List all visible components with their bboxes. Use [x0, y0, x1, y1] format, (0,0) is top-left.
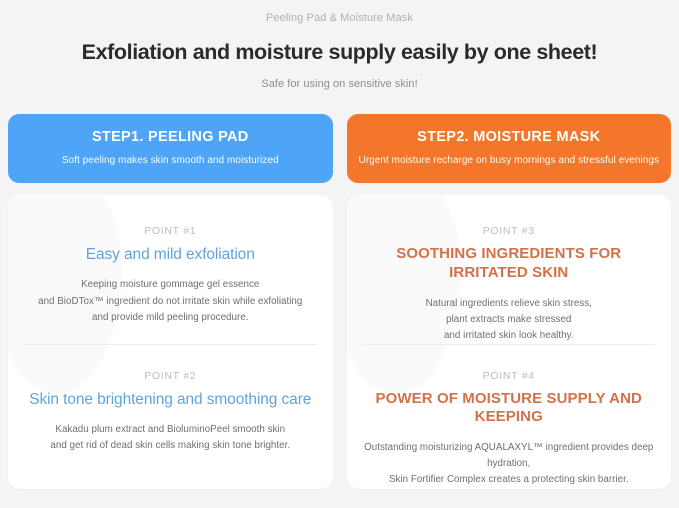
- page-subtitle: Safe for using on sensitive skin!: [0, 78, 679, 90]
- step2-points-card: POINT #3 SOOTHING INGREDIENTS FOR IRRITA…: [347, 195, 672, 488]
- point-1-body: Keeping moisture gommage gel essence and…: [18, 277, 323, 325]
- point-1-title: Easy and mild exfoliation: [18, 245, 323, 264]
- step2-column: STEP2. MOISTURE MASK Urgent moisture rec…: [347, 114, 672, 489]
- point-4-title: POWER OF MOISTURE SUPPLY AND KEEPING: [357, 390, 662, 428]
- step1-points-card: POINT #1 Easy and mild exfoliation Keepi…: [8, 195, 333, 488]
- point-4-body: Outstanding moisturizing AQUALAXYL™ ingr…: [357, 440, 662, 488]
- point-4-label: POINT #4: [357, 370, 662, 384]
- point-4-block: POINT #4 POWER OF MOISTURE SUPPLY AND KE…: [357, 345, 662, 489]
- point-2-label: POINT #2: [18, 370, 323, 384]
- point-3-title: SOOTHING INGREDIENTS FOR IRRITATED SKIN: [357, 245, 662, 283]
- product-kicker: Peeling Pad & Moisture Mask: [0, 11, 679, 26]
- point-1-body-line: Keeping moisture gommage gel essence: [18, 277, 323, 293]
- step2-banner-title: STEP2. MOISTURE MASK: [357, 129, 662, 146]
- step1-banner-subtitle: Soft peeling makes skin smooth and moist…: [18, 154, 323, 167]
- page-title: Exfoliation and moisture supply easily b…: [0, 39, 679, 66]
- step1-banner-title: STEP1. PEELING PAD: [18, 129, 323, 146]
- page-header: Peeling Pad & Moisture Mask Exfoliation …: [0, 0, 679, 90]
- step2-banner: STEP2. MOISTURE MASK Urgent moisture rec…: [347, 114, 672, 183]
- point-3-block: POINT #3 SOOTHING INGREDIENTS FOR IRRITA…: [357, 195, 662, 344]
- product-info-page: Peeling Pad & Moisture Mask Exfoliation …: [0, 0, 679, 508]
- point-3-body-line: plant extracts make stressed: [357, 312, 662, 328]
- steps-columns: STEP1. PEELING PAD Soft peeling makes sk…: [0, 114, 679, 489]
- point-3-body: Natural ingredients relieve skin stress,…: [357, 296, 662, 344]
- step2-banner-subtitle: Urgent moisture recharge on busy morning…: [357, 154, 662, 167]
- point-1-label: POINT #1: [18, 225, 323, 239]
- point-2-block: POINT #2 Skin tone brightening and smoot…: [18, 345, 323, 489]
- step1-banner: STEP1. PEELING PAD Soft peeling makes sk…: [8, 114, 333, 183]
- point-2-body-line: Kakadu plum extract and BioluminoPeel sm…: [18, 422, 323, 438]
- point-1-body-line: and provide mild peeling procedure.: [18, 310, 323, 326]
- point-1-block: POINT #1 Easy and mild exfoliation Keepi…: [18, 195, 323, 344]
- step1-column: STEP1. PEELING PAD Soft peeling makes sk…: [8, 114, 333, 489]
- point-2-body-line: and get rid of dead skin cells making sk…: [18, 438, 323, 454]
- point-3-body-line: and irritated skin look healthy.: [357, 328, 662, 344]
- point-2-body: Kakadu plum extract and BioluminoPeel sm…: [18, 422, 323, 454]
- point-2-title: Skin tone brightening and smoothing care: [18, 390, 323, 409]
- point-3-label: POINT #3: [357, 225, 662, 239]
- point-4-body-line: Skin Fortifier Complex creates a protect…: [357, 472, 662, 488]
- point-4-body-line: Outstanding moisturizing AQUALAXYL™ ingr…: [357, 440, 662, 472]
- point-1-body-line: and BioDTox™ ingredient do not irritate …: [18, 294, 323, 310]
- point-3-body-line: Natural ingredients relieve skin stress,: [357, 296, 662, 312]
